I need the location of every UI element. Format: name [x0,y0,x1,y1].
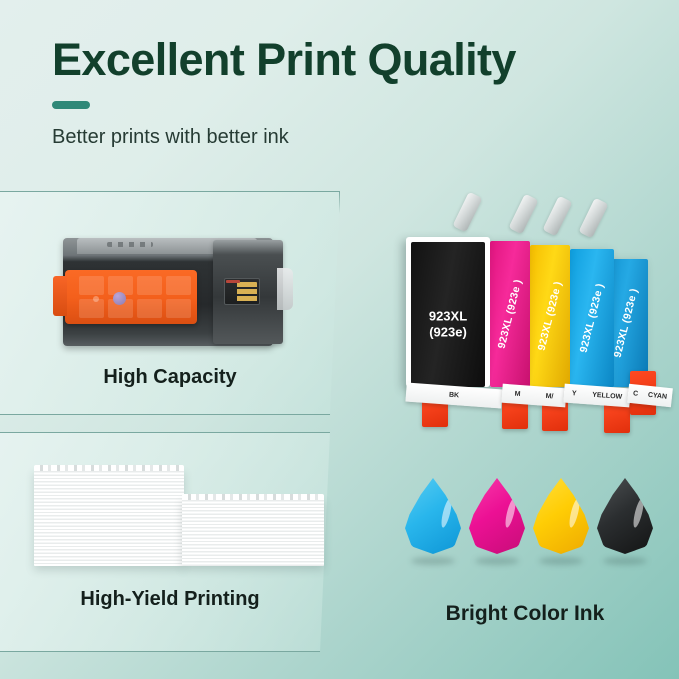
paper-stack-small [182,498,324,566]
droplet-black [597,478,653,568]
cartridge-orange-clip [65,270,197,324]
cartridge-chip-contact [226,280,240,283]
cartridge-pull-tab [508,194,538,235]
droplet-magenta [469,478,525,568]
droplet-gloss [631,498,645,529]
droplet-shape [597,478,653,554]
clip-pull-tab [53,276,67,316]
droplet-cyan [405,478,461,568]
droplet-shape [405,478,461,554]
color-code: CYAN [647,392,667,401]
cartridge-model-line2: (923e) [406,324,490,340]
cartridge-black-label: 923XL (923e) [406,308,490,339]
caption-bright-color-ink: Bright Color Ink [380,602,670,626]
cartridge-side-wing [277,268,293,310]
clip-cell [137,276,162,295]
cartridge-pull-tab [452,192,482,233]
clip-dot [93,296,99,302]
color-code: YELLOW [592,392,622,401]
droplet-shadow [411,557,455,565]
droplet-yellow [533,478,589,568]
cartridge-pull-tab [542,196,572,237]
color-code: M [514,391,520,398]
page-title: Excellent Print Quality [52,36,652,83]
color-code: M/ [545,393,553,401]
clip-cell [166,276,191,295]
clip-cell [137,299,162,318]
droplet-shape [469,478,525,554]
color-code: C [633,390,639,397]
color-code: BK [449,392,460,400]
cartridge-vents [107,242,153,247]
ink-cartridge-magenta: 923XL (923e ) [490,241,530,387]
paper-stack-large [34,469,184,566]
cartridge-label-strip-y: Y YELLOW [563,384,630,408]
droplet-gloss [439,498,453,529]
printer-cartridge-image [63,230,301,352]
droplet-gloss [503,498,517,529]
ink-cartridge-yellow: 923XL (923e ) [530,245,570,387]
ink-cartridge-cyan: 923XL (923e ) [570,249,614,387]
clip-cell [79,299,104,318]
caption-high-yield: High-Yield Printing [0,588,340,611]
cartridge-model-line1: 923XL [406,308,490,324]
color-code: Y [572,390,577,397]
droplet-shadow [539,557,583,565]
caption-high-capacity: High Capacity [0,366,340,389]
droplet-gloss [567,498,581,529]
header: Excellent Print Quality Better prints wi… [52,36,652,149]
ink-cartridge-black: 923XL (923e) [406,237,490,387]
droplet-shadow [603,557,647,565]
page-subtitle: Better prints with better ink [52,126,652,149]
ink-cartridge-set-image: 923XL (923e ) 923XL (923e ) 923XL (923e … [398,193,668,433]
clip-cell [166,299,191,318]
paper-stacks-image [34,455,324,570]
droplet-shadow [475,557,519,565]
cartridge-pull-tab [578,198,608,239]
clip-cell [79,276,104,295]
accent-rule [52,101,90,109]
cartridge-red-tab [604,403,630,433]
ink-droplets-image [405,478,655,578]
clip-knob [113,292,126,305]
droplet-shape [533,478,589,554]
